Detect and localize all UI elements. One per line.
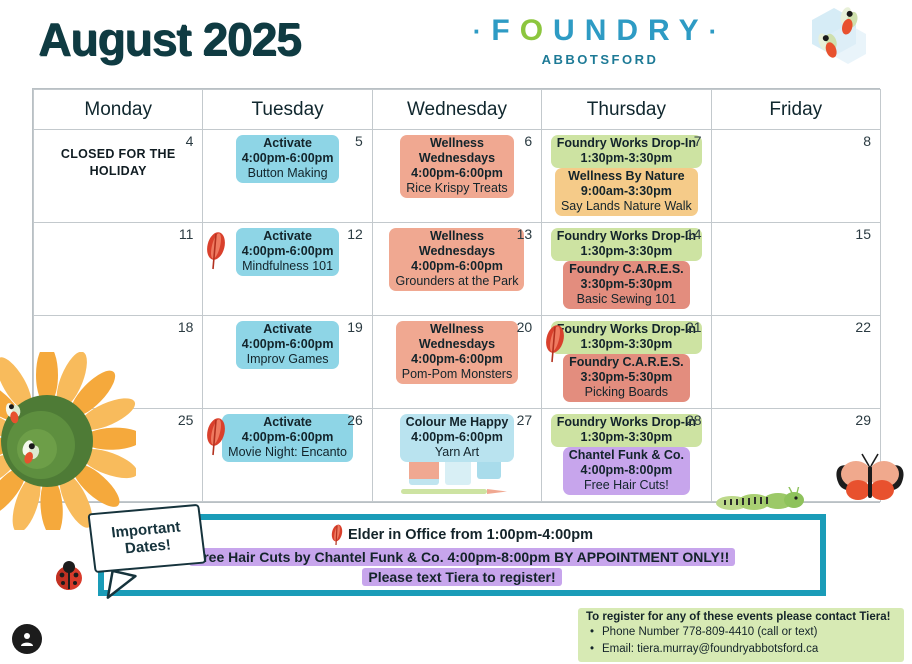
calendar-day-cell-22[interactable]: 22 bbox=[711, 316, 880, 409]
event-title: Foundry C.A.R.E.S. bbox=[569, 355, 684, 370]
day-number: 15 bbox=[855, 226, 871, 242]
contact-title: To register for any of these events plea… bbox=[586, 611, 896, 623]
day-number: 7 bbox=[694, 133, 702, 149]
event-detail: Picking Boards bbox=[569, 385, 684, 400]
event-title: Activate bbox=[228, 415, 347, 430]
bubble-body: Important Dates! bbox=[87, 504, 206, 573]
day-header-thursday: Thursday bbox=[542, 90, 711, 130]
day-number: 5 bbox=[355, 133, 363, 149]
calendar-week-row: 2526Activate4:00pm-6:00pmMovie Night: En… bbox=[34, 409, 881, 502]
day-number: 8 bbox=[863, 133, 871, 149]
calendar-body: 4CLOSED FOR THEHOLIDAY5Activate4:00pm-6:… bbox=[34, 130, 881, 502]
day-number: 13 bbox=[517, 226, 533, 242]
calendar-week-row: 1819Activate4:00pm-6:00pmImprov Games20W… bbox=[34, 316, 881, 409]
calendar-day-cell-5[interactable]: 5Activate4:00pm-6:00pmButton Making bbox=[203, 130, 372, 223]
calendar-day-cell-26[interactable]: 26Activate4:00pm-6:00pmMovie Night: Enca… bbox=[203, 409, 372, 502]
event-card[interactable]: Foundry Works Drop-In1:30pm-3:30pm bbox=[551, 135, 702, 168]
event-title-2: Wednesdays bbox=[406, 151, 507, 166]
avatar[interactable] bbox=[12, 624, 42, 654]
day-number: 19 bbox=[347, 319, 363, 335]
event-time: 1:30pm-3:30pm bbox=[557, 337, 696, 352]
calendar-day-cell-14[interactable]: 14Foundry Works Drop-In1:30pm-3:30pmFoun… bbox=[542, 223, 711, 316]
day-number: 21 bbox=[686, 319, 702, 335]
calendar-day-cell-8[interactable]: 8 bbox=[711, 130, 880, 223]
calendar-day-cell-27[interactable]: 27Colour Me Happy4:00pm-6:00pmYarn Art bbox=[372, 409, 541, 502]
event-time: 4:00pm-8:00pm bbox=[569, 463, 684, 478]
contact-info-box: To register for any of these events plea… bbox=[578, 608, 904, 662]
logo-letter-o: O bbox=[520, 14, 553, 47]
day-header-tuesday: Tuesday bbox=[203, 90, 372, 130]
event-detail: Basic Sewing 101 bbox=[569, 292, 684, 307]
calendar-day-cell-12[interactable]: 12Activate4:00pm-6:00pmMindfulness 101 bbox=[203, 223, 372, 316]
day-number: 6 bbox=[524, 133, 532, 149]
event-detail: Movie Night: Encanto bbox=[228, 445, 347, 460]
day-number: 29 bbox=[855, 412, 871, 428]
bee-hexagon-icon bbox=[800, 4, 872, 74]
event-title-2: Wednesdays bbox=[395, 244, 518, 259]
event-list: Foundry Works Drop-In1:30pm-3:30pmWellne… bbox=[542, 130, 710, 216]
calendar-table: Monday Tuesday Wednesday Thursday Friday… bbox=[33, 89, 881, 502]
notice-register-text: Please text Tiera to register! bbox=[362, 568, 561, 586]
calendar-week-row: 1112Activate4:00pm-6:00pmMindfulness 101… bbox=[34, 223, 881, 316]
event-card[interactable]: Foundry Works Drop-In1:30pm-3:30pm bbox=[551, 321, 702, 354]
day-number: 14 bbox=[686, 226, 702, 242]
calendar-day-cell-19[interactable]: 19Activate4:00pm-6:00pmImprov Games bbox=[203, 316, 372, 409]
event-detail: Pom-Pom Monsters bbox=[402, 367, 512, 382]
event-title: Chantel Funk & Co. bbox=[569, 448, 684, 463]
event-time: 3:30pm-5:30pm bbox=[569, 370, 684, 385]
day-number: 18 bbox=[178, 319, 194, 335]
event-title: Activate bbox=[242, 229, 334, 244]
event-time: 1:30pm-3:30pm bbox=[557, 430, 696, 445]
calendar-day-cell-4[interactable]: 4CLOSED FOR THEHOLIDAY bbox=[34, 130, 203, 223]
foundry-logo: ·FOUNDRY· ABBOTSFORD bbox=[440, 14, 760, 67]
event-title: Foundry Works Drop-In bbox=[557, 415, 696, 430]
day-number: 22 bbox=[855, 319, 871, 335]
logo-letter-u: U bbox=[553, 14, 585, 47]
event-card[interactable]: Foundry Works Drop-In1:30pm-3:30pm bbox=[551, 414, 702, 447]
day-number: 27 bbox=[517, 412, 533, 428]
event-time: 4:00pm-6:00pm bbox=[395, 259, 518, 274]
event-card[interactable]: WellnessWednesdays4:00pm-6:00pmGrounders… bbox=[389, 228, 524, 291]
calendar-day-cell-20[interactable]: 20WellnessWednesdays4:00pm-6:00pmPom-Pom… bbox=[372, 316, 541, 409]
closed-line-1: CLOSED FOR THE bbox=[56, 146, 180, 163]
event-list: WellnessWednesdays4:00pm-6:00pmRice Kris… bbox=[373, 130, 541, 198]
event-card[interactable]: Foundry C.A.R.E.S.3:30pm-5:30pmBasic Sew… bbox=[563, 261, 690, 309]
day-number: 4 bbox=[186, 133, 194, 149]
event-title: Wellness bbox=[402, 322, 512, 337]
day-header-wednesday: Wednesday bbox=[372, 90, 541, 130]
event-time: 4:00pm-6:00pm bbox=[402, 352, 512, 367]
ladybug-icon bbox=[52, 560, 86, 592]
logo-letter-n: N bbox=[585, 14, 617, 47]
event-card[interactable]: Activate4:00pm-6:00pmMindfulness 101 bbox=[236, 228, 340, 276]
calendar-day-cell-11[interactable]: 11 bbox=[34, 223, 203, 316]
day-header-monday: Monday bbox=[34, 90, 203, 130]
calendar-header-row: Monday Tuesday Wednesday Thursday Friday bbox=[34, 90, 881, 130]
logo-letter-f: F bbox=[491, 14, 519, 47]
logo-subtitle: ABBOTSFORD bbox=[440, 52, 760, 67]
event-detail: Yarn Art bbox=[406, 445, 509, 460]
event-time: 1:30pm-3:30pm bbox=[557, 151, 696, 166]
event-title: Foundry Works Drop-In bbox=[557, 322, 696, 337]
day-number: 11 bbox=[179, 226, 194, 242]
event-list: Activate4:00pm-6:00pmButton Making bbox=[203, 130, 371, 183]
contact-item: Phone Number 778-809-4410 (call or text) bbox=[602, 624, 896, 641]
calendar-day-cell-15[interactable]: 15 bbox=[711, 223, 880, 316]
event-title: Wellness bbox=[395, 229, 518, 244]
event-card[interactable]: Chantel Funk & Co.4:00pm-8:00pmFree Hair… bbox=[563, 447, 690, 495]
event-card[interactable]: Activate4:00pm-6:00pmMovie Night: Encant… bbox=[222, 414, 353, 462]
event-title: Activate bbox=[242, 136, 334, 151]
event-time: 4:00pm-6:00pm bbox=[242, 337, 334, 352]
event-title: Foundry Works Drop-In bbox=[557, 136, 696, 151]
feather-icon bbox=[331, 524, 343, 546]
calendar-day-cell-25[interactable]: 25 bbox=[34, 409, 203, 502]
event-time: 4:00pm-6:00pm bbox=[242, 244, 334, 259]
event-title: Wellness By Nature bbox=[561, 169, 692, 184]
event-time: 3:30pm-5:30pm bbox=[569, 277, 684, 292]
event-time: 4:00pm-6:00pm bbox=[228, 430, 347, 445]
day-number: 26 bbox=[347, 412, 363, 428]
notice-elder-line: Elder in Office from 1:00pm-4:00pm bbox=[331, 524, 593, 546]
event-card[interactable]: Activate4:00pm-6:00pmImprov Games bbox=[236, 321, 340, 369]
event-card[interactable]: Colour Me Happy4:00pm-6:00pmYarn Art bbox=[400, 414, 515, 462]
contact-item: Email: tiera.murray@foundryabbotsford.ca bbox=[602, 641, 896, 658]
notice-haircuts-text: Free Hair Cuts by Chantel Funk & Co. 4:0… bbox=[189, 548, 736, 566]
logo-letter-y: Y bbox=[679, 14, 709, 47]
event-time: 1:30pm-3:30pm bbox=[557, 244, 696, 259]
important-dates-bubble: Important Dates! bbox=[88, 501, 215, 593]
closed-notice: CLOSED FOR THEHOLIDAY bbox=[48, 142, 188, 184]
event-detail: Rice Krispy Treats bbox=[406, 181, 507, 196]
event-title: Foundry Works Drop-In bbox=[557, 229, 696, 244]
notice-elder-text: Elder in Office from 1:00pm-4:00pm bbox=[348, 527, 593, 543]
day-number: 28 bbox=[686, 412, 702, 428]
calendar-day-cell-21[interactable]: 21Foundry Works Drop-In1:30pm-3:30pmFoun… bbox=[542, 316, 711, 409]
event-title: Colour Me Happy bbox=[406, 415, 509, 430]
calendar-day-cell-28[interactable]: 28Foundry Works Drop-In1:30pm-3:30pmChan… bbox=[542, 409, 711, 502]
event-card[interactable]: WellnessWednesdays4:00pm-6:00pmRice Kris… bbox=[400, 135, 513, 198]
event-time: 4:00pm-6:00pm bbox=[406, 166, 507, 181]
event-title: Wellness bbox=[406, 136, 507, 151]
event-detail: Free Hair Cuts! bbox=[569, 478, 684, 493]
logo-letter-r: R bbox=[648, 14, 679, 47]
calendar-week-row: 4CLOSED FOR THEHOLIDAY5Activate4:00pm-6:… bbox=[34, 130, 881, 223]
event-card[interactable]: Wellness By Nature9:00am-3:30pmSay Lands… bbox=[555, 168, 698, 216]
event-detail: Improv Games bbox=[242, 352, 334, 367]
day-number: 20 bbox=[517, 319, 533, 335]
event-time: 9:00am-3:30pm bbox=[561, 184, 692, 199]
event-detail: Mindfulness 101 bbox=[242, 259, 334, 274]
day-number: 12 bbox=[347, 226, 363, 242]
contact-list: Phone Number 778-809-4410 (call or text)… bbox=[586, 624, 896, 657]
event-detail: Button Making bbox=[242, 166, 334, 181]
event-time: 4:00pm-6:00pm bbox=[242, 151, 334, 166]
event-detail: Say Lands Nature Walk bbox=[561, 199, 692, 214]
calendar-day-cell-7[interactable]: 7Foundry Works Drop-In1:30pm-3:30pmWelln… bbox=[542, 130, 711, 223]
bubble-line-2: Dates! bbox=[124, 536, 172, 557]
day-header-friday: Friday bbox=[711, 90, 880, 130]
calendar-day-cell-18[interactable]: 18 bbox=[34, 316, 203, 409]
event-card[interactable]: WellnessWednesdays4:00pm-6:00pmPom-Pom M… bbox=[396, 321, 518, 384]
foundry-wordmark: ·FOUNDRY· bbox=[440, 14, 760, 48]
closed-line-2: HOLIDAY bbox=[56, 163, 180, 180]
logo-letter-d: D bbox=[616, 14, 648, 47]
event-card[interactable]: Foundry Works Drop-In1:30pm-3:30pm bbox=[551, 228, 702, 261]
event-card[interactable]: Activate4:00pm-6:00pmButton Making bbox=[236, 135, 340, 183]
logo-dot-left: · bbox=[473, 16, 492, 46]
logo-dot-right: · bbox=[709, 16, 728, 46]
event-title: Activate bbox=[242, 322, 334, 337]
calendar-grid: Monday Tuesday Wednesday Thursday Friday… bbox=[32, 88, 880, 503]
event-time: 4:00pm-6:00pm bbox=[406, 430, 509, 445]
calendar-day-cell-29[interactable]: 29 bbox=[711, 409, 880, 502]
event-detail: Grounders at the Park bbox=[395, 274, 518, 289]
calendar-day-cell-13[interactable]: 13WellnessWednesdays4:00pm-6:00pmGrounde… bbox=[372, 223, 541, 316]
page-header: August 2025 ·FOUNDRY· ABBOTSFORD bbox=[0, 0, 912, 88]
event-card[interactable]: Foundry C.A.R.E.S.3:30pm-5:30pmPicking B… bbox=[563, 354, 690, 402]
event-title-2: Wednesdays bbox=[402, 337, 512, 352]
event-title: Foundry C.A.R.E.S. bbox=[569, 262, 684, 277]
day-number: 25 bbox=[178, 412, 194, 428]
page-title: August 2025 bbox=[38, 12, 301, 66]
person-icon bbox=[19, 631, 35, 647]
calendar-day-cell-6[interactable]: 6WellnessWednesdays4:00pm-6:00pmRice Kri… bbox=[372, 130, 541, 223]
